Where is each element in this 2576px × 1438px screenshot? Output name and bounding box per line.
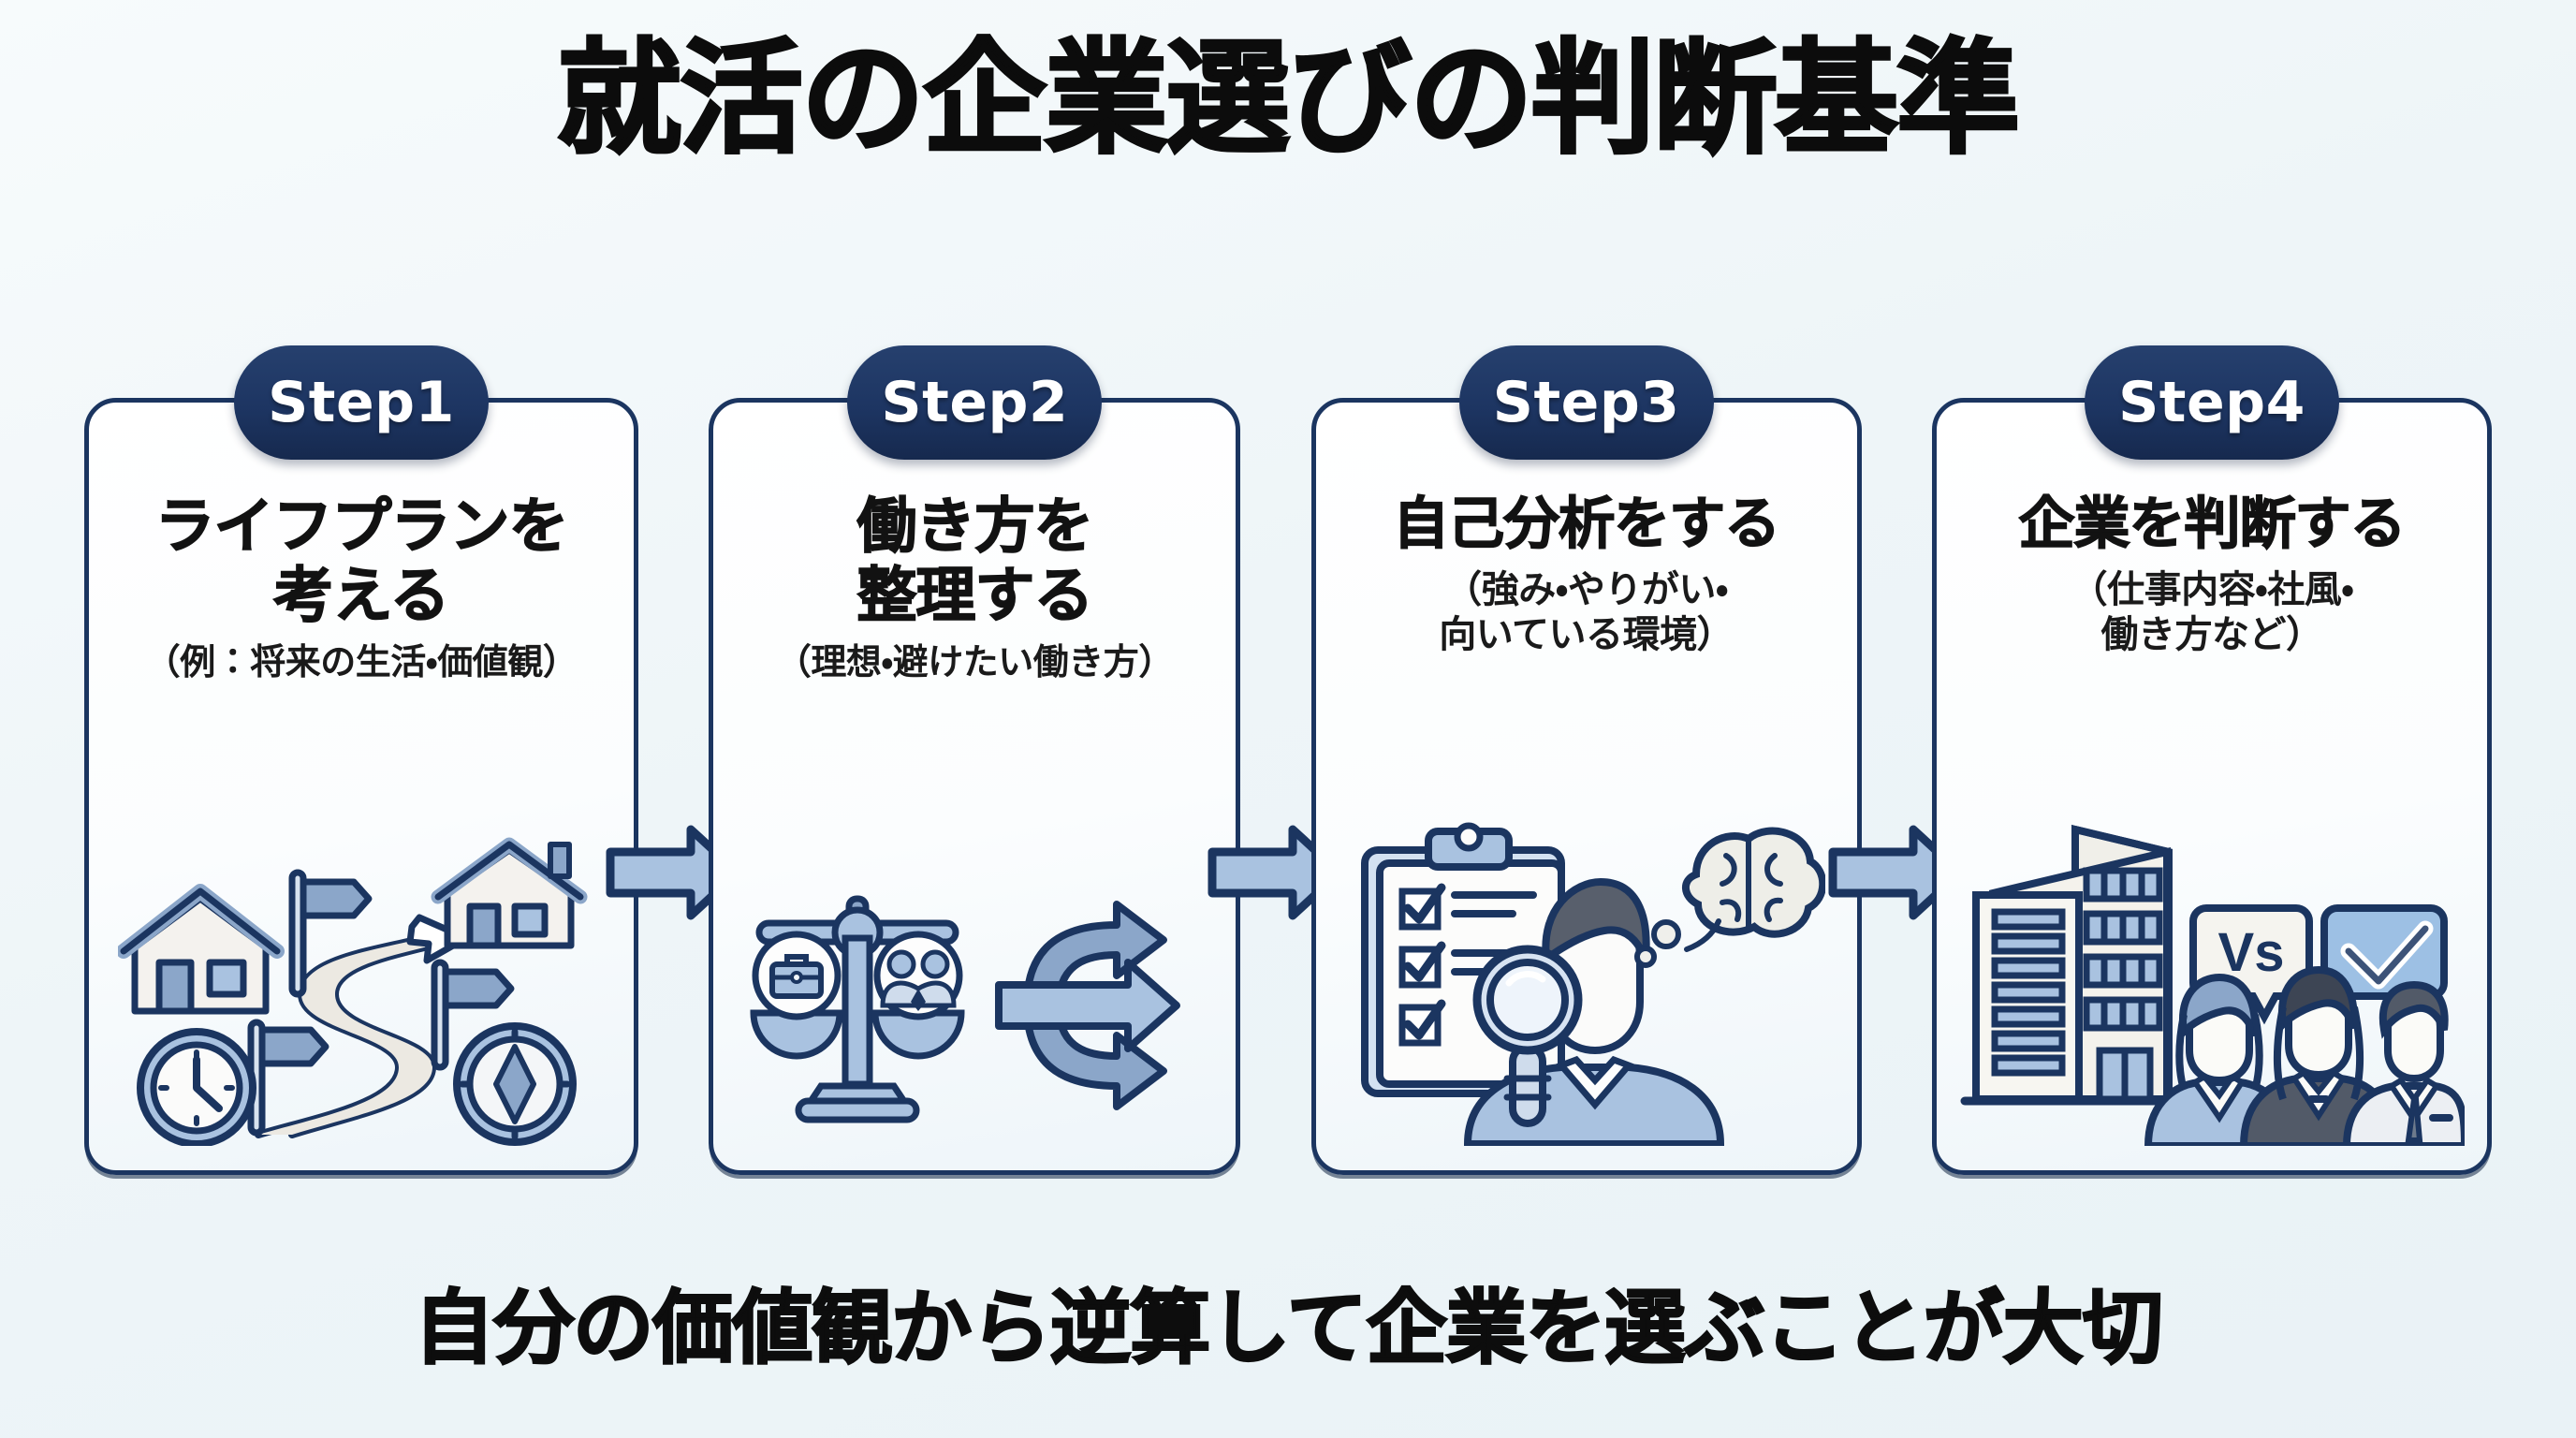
step-badge-1: Step1 <box>234 345 489 460</box>
step-card-1[interactable]: Step1 ライフプランを 考える （例：将来の生活・価値観） <box>84 398 638 1175</box>
balance-scale-icon <box>754 899 961 1120</box>
office-building-icon <box>1965 829 2180 1101</box>
step-card-2[interactable]: Step2 働き方を 整理する （理想・避けたい働き方） <box>709 398 1240 1175</box>
step-card-3[interactable]: Step3 自己分析をする （強み・やりがい・ 向いている環境） <box>1311 398 1862 1175</box>
page-title: 就活の企業選びの判断基準 <box>0 37 2576 161</box>
step-text-2: 働き方を 整理する （理想・避けたい働き方） <box>713 492 1236 684</box>
briefcase-icon <box>772 957 821 996</box>
step-badge-4: Step4 <box>2085 345 2339 460</box>
self-analysis-illustration <box>1316 743 1857 1146</box>
step-subtitle-2: （理想・避けたい働き方） <box>726 640 1222 683</box>
step-title-3: 自己分析をする <box>1329 492 1844 558</box>
infographic-canvas: 就活の企業選びの判断基準 Step1 ライフプランを 考える （例：将来の生活・… <box>0 0 2576 1438</box>
step-subtitle-3: （強み・やりがい・ 向いている環境） <box>1329 567 1844 659</box>
step-badge-3: Step3 <box>1459 345 1714 460</box>
step-subtitle-4: （仕事内容・社風・ 働き方など） <box>1950 567 2474 659</box>
step-title-2: 働き方を 整理する <box>726 492 1222 631</box>
step-text-4: 企業を判断する （仕事内容・社風・ 働き方など） <box>1937 492 2487 658</box>
step-subtitle-1: （例：将来の生活・価値観） <box>102 640 621 683</box>
step-title-4: 企業を判断する <box>1950 492 2474 558</box>
company-judgement-illustration: Vs <box>1937 743 2487 1146</box>
clock-icon <box>140 1032 253 1144</box>
step-card-4[interactable]: Step4 企業を判断する （仕事内容・社風・ 働き方など） <box>1932 398 2492 1175</box>
business-people-icon <box>2148 970 2465 1146</box>
work-style-balance-illustration <box>713 743 1236 1146</box>
step-badge-2: Step2 <box>847 345 1102 460</box>
branching-arrows-icon <box>999 904 1177 1107</box>
house-icon <box>124 891 277 1011</box>
step-title-1: ライフプランを 考える <box>102 492 621 631</box>
step-text-3: 自己分析をする （強み・やりがい・ 向いている環境） <box>1316 492 1857 658</box>
compass-icon <box>457 1026 573 1142</box>
footer-note: 自分の価値観から逆算して企業を選ぶことが大切 <box>0 1262 2576 1379</box>
life-plan-road-illustration <box>89 743 634 1146</box>
step-text-1: ライフプランを 考える （例：将来の生活・価値観） <box>89 492 634 684</box>
steps-row: Step1 ライフプランを 考える （例：将来の生活・価値観） <box>84 398 2492 1184</box>
vs-bubble-label: Vs <box>2218 922 2285 983</box>
brain-thought-bubble-icon <box>1637 831 1822 965</box>
house-icon <box>438 844 580 946</box>
